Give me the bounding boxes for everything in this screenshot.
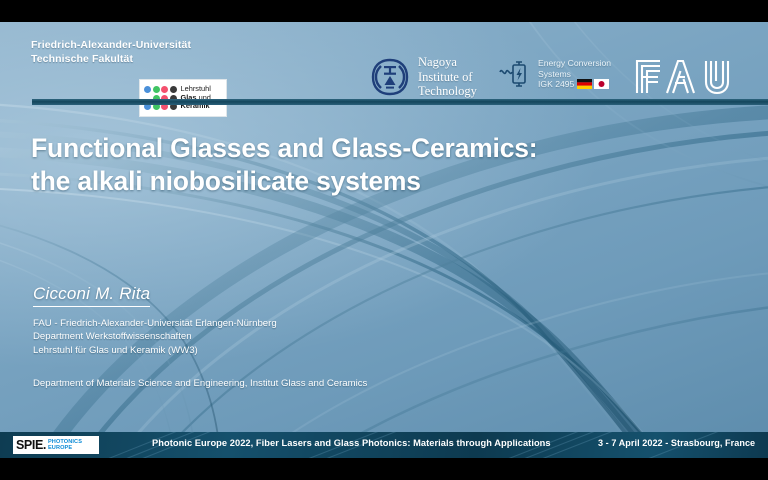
- energy-conversion-systems-logo: Energy Conversion Systems IGK 2495: [499, 58, 611, 90]
- germany-flag-icon: [577, 79, 592, 89]
- spie-photonics-europe-sub: PHOTONICS EUROPE: [48, 439, 82, 451]
- dot-matrix-icon: [144, 86, 177, 110]
- nagoya-institute-logo: Nagoya Institute of Technology: [370, 55, 477, 99]
- university-name: Friedrich-Alexander-Universität Technisc…: [31, 39, 191, 66]
- conference-date-location: 3 - 7 April 2022 - Strasbourg, France: [598, 438, 755, 448]
- page-title: Functional Glasses and Glass-Ceramics: t…: [31, 132, 591, 198]
- fau-wordmark-icon: [634, 58, 746, 96]
- nagoya-institute-name: Nagoya Institute of Technology: [418, 55, 477, 99]
- slide-header: Friedrich-Alexander-Universität Technisc…: [0, 22, 768, 100]
- partner-flags: [577, 79, 609, 89]
- conference-name: Photonic Europe 2022, Fiber Lasers and G…: [152, 438, 551, 448]
- presentation-slide: Friedrich-Alexander-Universität Technisc…: [0, 22, 768, 458]
- department-english: Department of Materials Science and Engi…: [33, 377, 367, 390]
- slide-screen: Friedrich-Alexander-Universität Technisc…: [0, 0, 768, 480]
- spie-photonics-europe-logo: SPIE. PHOTONICS EUROPE: [13, 436, 99, 454]
- lehrstuhl-glas-und-keramik-logo: Lehrstuhl Glas und Keramik: [139, 79, 227, 117]
- author-affiliation: FAU - Friedrich-Alexander-Universität Er…: [33, 317, 277, 357]
- energy-conversion-battery-icon: [499, 58, 533, 90]
- header-divider: [32, 99, 768, 105]
- author-name: Cicconi M. Rita: [33, 284, 150, 307]
- japan-flag-icon: [594, 79, 609, 89]
- energy-conversion-systems-text: Energy Conversion Systems IGK 2495: [538, 58, 611, 89]
- slide-footer: SPIE. PHOTONICS EUROPE Photonic Europe 2…: [0, 432, 768, 458]
- spie-wordmark: SPIE.: [16, 438, 46, 452]
- nagoya-emblem-icon: [370, 57, 410, 97]
- fau-logo: [634, 58, 746, 101]
- lehrstuhl-logo-text: Lehrstuhl Glas und Keramik: [181, 85, 211, 111]
